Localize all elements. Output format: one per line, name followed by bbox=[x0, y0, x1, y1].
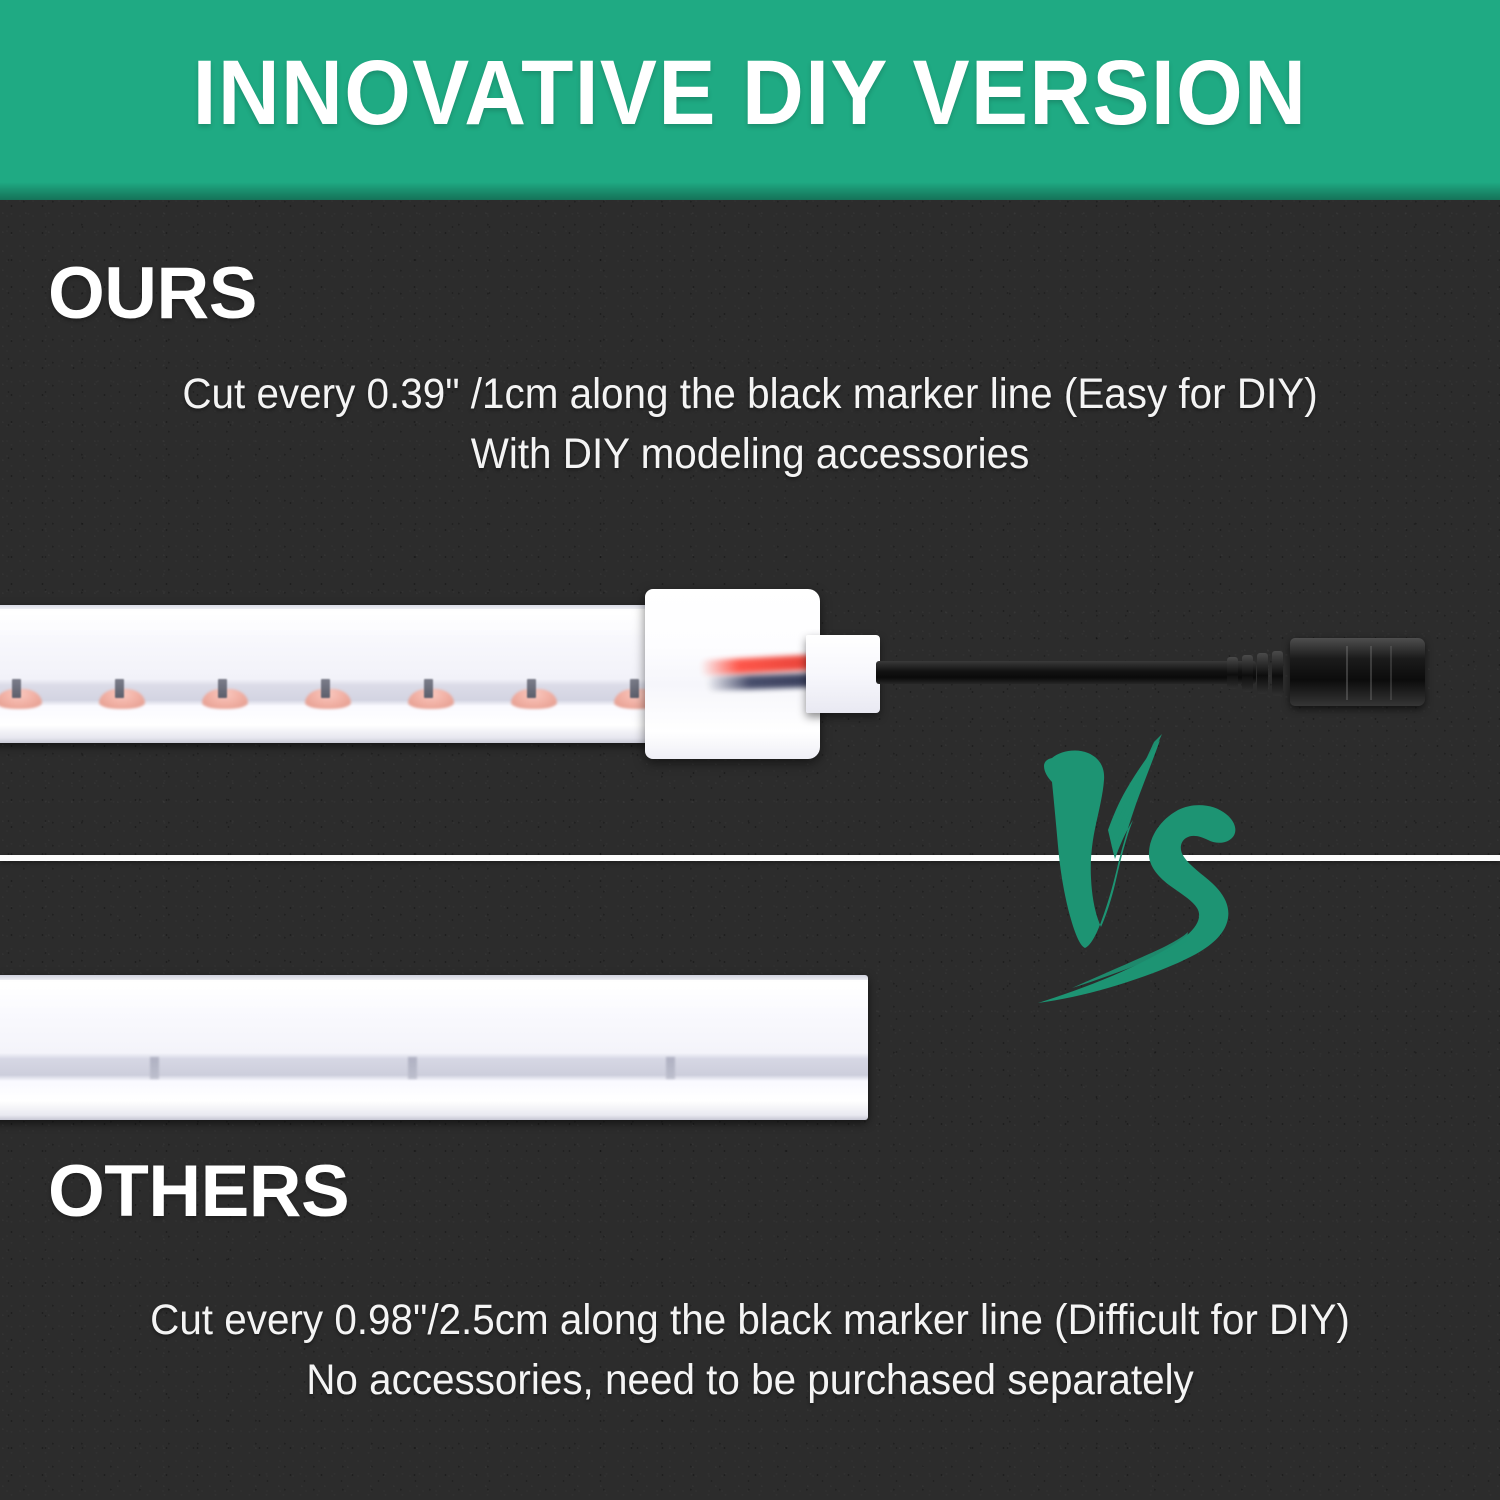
others-heading: OTHERS bbox=[48, 1150, 349, 1233]
strain-relief-rib bbox=[1227, 657, 1238, 689]
ours-description: Cut every 0.39" /1cm along the black mar… bbox=[45, 364, 1455, 484]
header-banner: INNOVATIVE DIY VERSION bbox=[0, 0, 1500, 200]
led-chip bbox=[0, 679, 95, 713]
ours-connector-neck bbox=[806, 635, 880, 713]
led-chip bbox=[507, 679, 610, 713]
ours-description-line-2: With DIY modeling accessories bbox=[45, 424, 1455, 484]
ours-dc-barrel-jack bbox=[1290, 638, 1425, 706]
cut-mark bbox=[0, 1057, 250, 1081]
cut-mark bbox=[508, 1057, 766, 1081]
led-chip bbox=[198, 679, 301, 713]
cut-mark bbox=[250, 1057, 508, 1081]
led-chip bbox=[404, 679, 507, 713]
others-description-line-1: Cut every 0.98"/2.5cm along the black ma… bbox=[45, 1290, 1455, 1350]
ours-heading: OURS bbox=[48, 252, 257, 335]
ours-led-strip-body bbox=[0, 605, 722, 743]
ours-power-cable bbox=[876, 661, 1256, 684]
banner-title: INNOVATIVE DIY VERSION bbox=[53, 0, 1448, 186]
others-cut-mark-row bbox=[0, 1057, 868, 1081]
strain-relief-rib bbox=[1242, 655, 1253, 692]
ours-strain-relief bbox=[1227, 648, 1295, 698]
strain-relief-rib bbox=[1272, 651, 1283, 696]
product-comparison-infographic: INNOVATIVE DIY VERSION OURS Cut every 0.… bbox=[0, 0, 1500, 1500]
ours-strip-gloss-highlight bbox=[0, 609, 722, 635]
strain-relief-rib bbox=[1257, 653, 1268, 694]
ours-led-chip-row bbox=[0, 679, 722, 713]
led-chip bbox=[301, 679, 404, 713]
others-description-line-2: No accessories, need to be purchased sep… bbox=[45, 1350, 1455, 1410]
others-strip-gloss-highlight bbox=[0, 980, 868, 1008]
banner-bottom-shade bbox=[0, 182, 1500, 200]
others-product-image bbox=[0, 960, 1500, 1140]
others-led-strip-body bbox=[0, 975, 868, 1120]
others-description: Cut every 0.98"/2.5cm along the black ma… bbox=[45, 1290, 1455, 1410]
led-chip bbox=[95, 679, 198, 713]
ours-description-line-1: Cut every 0.39" /1cm along the black mar… bbox=[45, 364, 1455, 424]
